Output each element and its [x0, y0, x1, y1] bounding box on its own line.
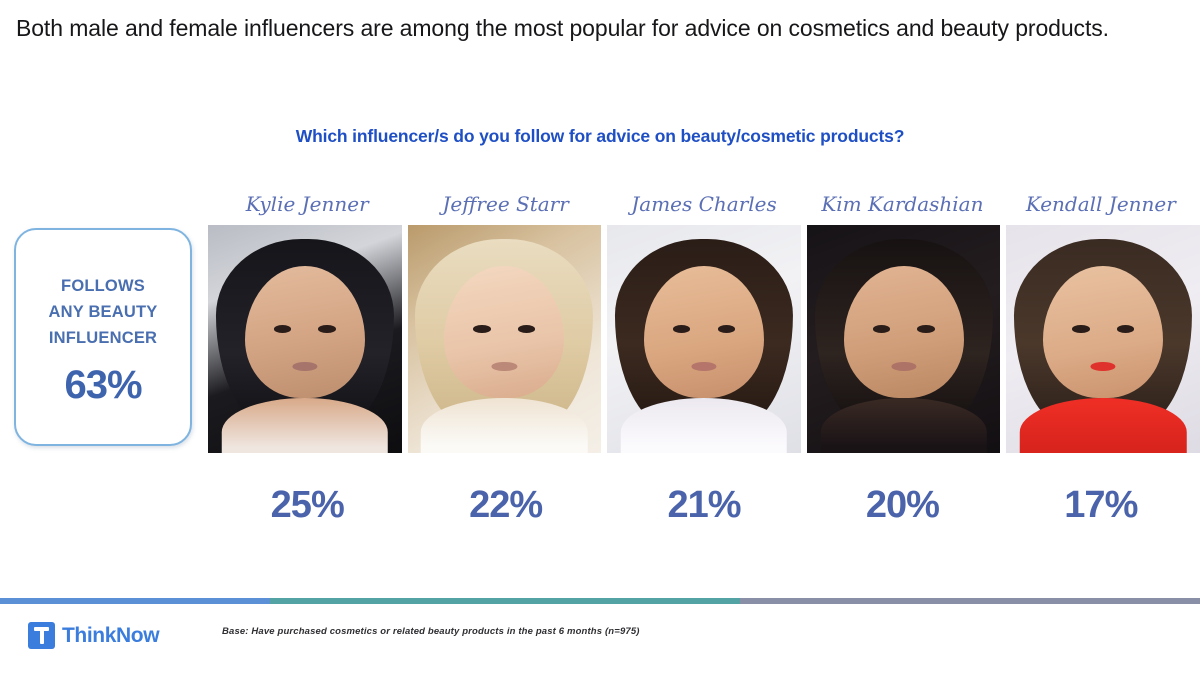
influencer-photo-strip — [208, 225, 1200, 453]
influencer-name: Jeffree Starr — [406, 192, 604, 224]
photo-lips — [292, 362, 317, 372]
callout-label-line-3: INFLUENCER — [49, 325, 158, 351]
thinknow-logo-text: ThinkNow — [62, 624, 159, 648]
photo-eye-right — [917, 325, 934, 333]
photo-eye-right — [318, 325, 335, 333]
influencer-percentage: 22% — [406, 484, 604, 540]
influencer-photo-jeffree-starr — [408, 225, 602, 453]
thinknow-logo: ThinkNow — [28, 622, 159, 649]
influencer-percentage: 17% — [1002, 484, 1200, 540]
survey-question: Which influencer/s do you follow for adv… — [0, 126, 1200, 147]
photo-eye-left — [473, 325, 490, 333]
footer: ThinkNow Base: Have purchased cosmetics … — [0, 604, 1200, 675]
photo-lips — [492, 362, 517, 372]
influencer-photo-kim-kardashian — [807, 225, 1001, 453]
influencer-percentage: 20% — [803, 484, 1001, 540]
callout-label-line-2: ANY BEAUTY — [49, 299, 158, 325]
thinknow-mark-icon — [28, 622, 55, 649]
influencer-name: James Charles — [605, 192, 803, 224]
page-title: Both male and female influencers are amo… — [16, 12, 1176, 44]
photo-eye-right — [718, 325, 735, 333]
photo-lips — [891, 362, 916, 372]
photo-lips — [1091, 362, 1116, 372]
callout-value: 63% — [64, 363, 141, 408]
photo-eye-left — [873, 325, 890, 333]
influencer-name: Kim Kardashian — [803, 192, 1001, 224]
influencer-name: Kylie Jenner — [208, 192, 406, 224]
influencer-name: Kendall Jenner — [1002, 192, 1200, 224]
photo-lips — [691, 362, 716, 372]
photo-eye-left — [1072, 325, 1089, 333]
influencer-names-row: Kylie Jenner Jeffree Starr James Charles… — [208, 192, 1200, 224]
influencer-photo-kylie-jenner — [208, 225, 402, 453]
influencer-photo-kendall-jenner — [1006, 225, 1200, 453]
base-note: Base: Have purchased cosmetics or relate… — [222, 626, 640, 637]
follows-any-beauty-influencer-callout: FOLLOWS ANY BEAUTY INFLUENCER 63% — [14, 228, 192, 446]
influencer-percentage: 21% — [605, 484, 803, 540]
influencer-photo-james-charles — [607, 225, 801, 453]
influencer-percentage: 25% — [208, 484, 406, 540]
callout-label: FOLLOWS ANY BEAUTY INFLUENCER — [49, 273, 158, 351]
influencer-percentages-row: 25% 22% 21% 20% 17% — [208, 484, 1200, 540]
slide: Both male and female influencers are amo… — [0, 0, 1200, 675]
callout-label-line-1: FOLLOWS — [49, 273, 158, 299]
